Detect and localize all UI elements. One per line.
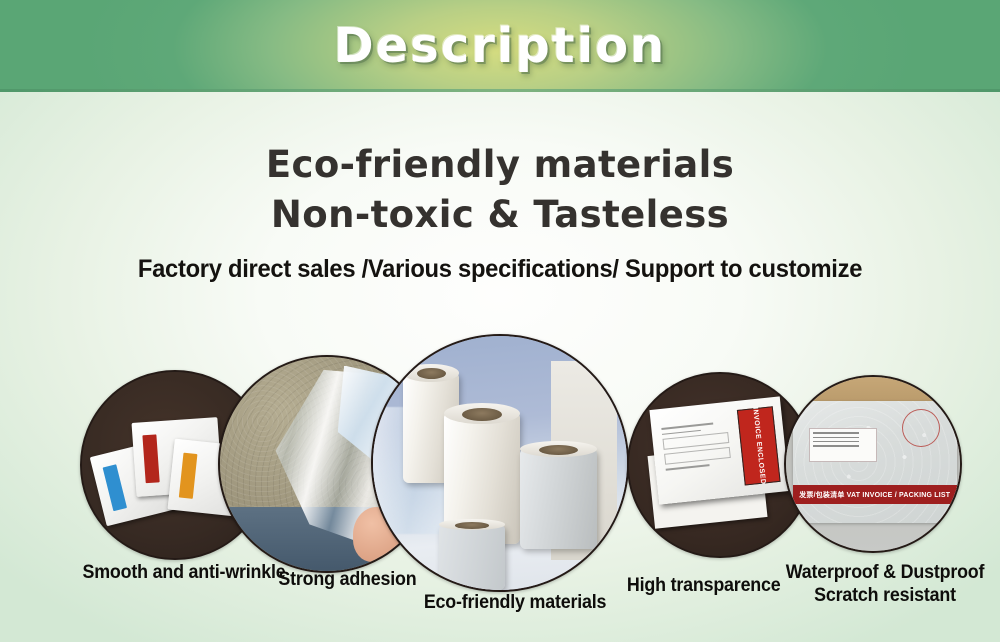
description-banner: Description Eco-friendly materials Non-t… xyxy=(0,0,1000,642)
caption-waterproof-dustproof: Waterproof & Dustproof Scratch resistant xyxy=(782,561,989,607)
label-red xyxy=(143,435,160,483)
packing-document xyxy=(809,428,876,462)
red-banner: 发票/包装清单 VAT INVOICE / PACKING LIST xyxy=(793,485,957,503)
red-stamp xyxy=(902,409,940,448)
feature-image-waterproof-dustproof: 发票/包装清单 VAT INVOICE / PACKING LIST xyxy=(784,375,962,553)
red-banner-text: 发票/包装清单 VAT INVOICE / PACKING LIST xyxy=(799,490,950,500)
roll-core xyxy=(539,445,579,455)
invoice-enclosed-label-text: INVOICE ENCLOSED xyxy=(752,407,767,485)
caption-strong-adhesion: Strong adhesion xyxy=(278,569,416,591)
headline-block: Eco-friendly materials Non-toxic & Taste… xyxy=(0,140,1000,240)
document-pouch: 发票/包装清单 VAT INVOICE / PACKING LIST xyxy=(793,401,957,523)
caption-high-transparence: High transparence xyxy=(627,575,781,597)
caption-smooth-and-anti-wrinkle: Smooth and anti-wrinkle xyxy=(82,562,285,584)
caption-line-2: Scratch resistant xyxy=(782,584,989,607)
headline-subtitle: Factory direct sales /Various specificat… xyxy=(25,255,975,284)
feature-image-eco-friendly-materials xyxy=(371,334,629,592)
film-roll-4 xyxy=(439,524,505,590)
banner-header: Description xyxy=(0,0,1000,92)
invoice-print-lines xyxy=(662,420,741,490)
page-title: Description xyxy=(0,0,1000,92)
headline-line-1: Eco-friendly materials xyxy=(0,140,1000,190)
headline-line-2: Non-toxic & Tasteless xyxy=(0,190,1000,240)
invoice-enclosed-label: INVOICE ENCLOSED xyxy=(738,407,782,486)
label-blue xyxy=(103,464,127,511)
caption-line-1: Waterproof & Dustproof xyxy=(782,561,989,584)
caption-eco-friendly-materials: Eco-friendly materials xyxy=(424,592,606,614)
roll-core xyxy=(455,522,489,529)
document-pouch: INVOICE ENCLOSED xyxy=(650,397,790,505)
film-roll-3 xyxy=(520,448,596,550)
label-orange xyxy=(179,452,197,498)
